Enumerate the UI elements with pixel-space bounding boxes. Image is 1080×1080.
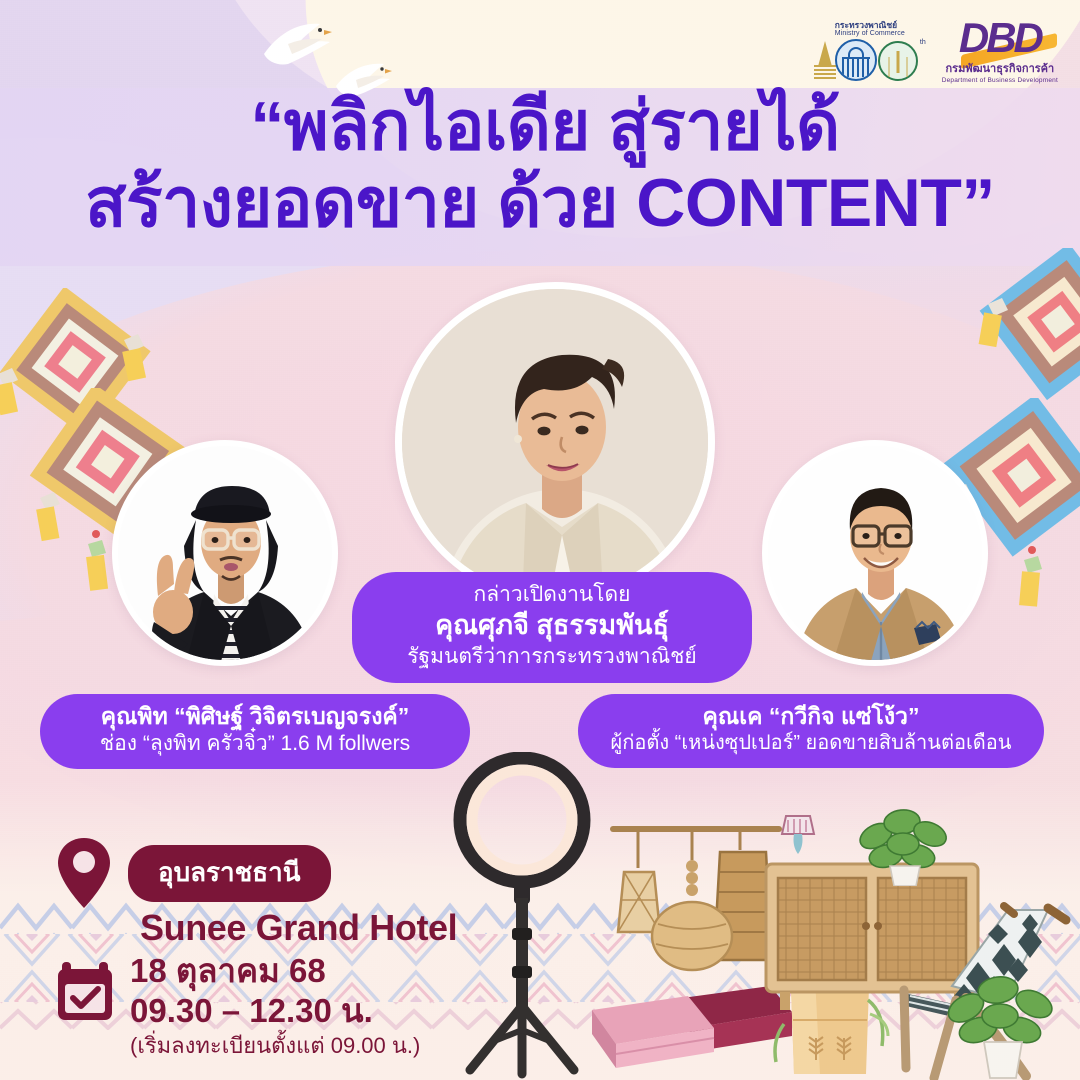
dbd-name-th: กรมพัฒนาธุรกิจการค้า xyxy=(946,59,1055,77)
dbd-wordmark: DBD xyxy=(959,18,1041,58)
avatar xyxy=(402,289,715,602)
ministry-name-th: กระทรวงพาณิชย์ xyxy=(835,21,905,31)
potted-plant-prop xyxy=(942,968,1066,1080)
hotel-name: Sunee Grand Hotel xyxy=(140,908,457,948)
registration-note: (เริ่มลงทะเบียนตั้งแต่ 09.00 น.) xyxy=(130,1032,420,1060)
event-date: 18 ตุลาคม 68 xyxy=(130,952,420,991)
ministry-logo-text: กระทรวงพาณิชย์ Ministry of Commerce xyxy=(835,21,905,39)
speaker-photo-left xyxy=(112,440,338,666)
page-title: “พลิกไอเดีย สู่รายได้ สร้างยอดขาย ด้วย C… xyxy=(0,92,1080,239)
left-speaker-detail: ช่อง “ลุงพิท ครัวจิ๋ว” 1.6 M follwers xyxy=(54,731,456,758)
speaker-badge-left: คุณพิท “พิศิษฐ์ วิจิตรเบญจรงค์” ช่อง “ลุ… xyxy=(40,694,470,769)
left-speaker-name: คุณพิท “พิศิษฐ์ วิจิตรเบญจรงค์” xyxy=(54,702,456,731)
location-pin-icon xyxy=(56,836,112,910)
potted-plant-prop xyxy=(848,806,960,886)
venue-location-row: อุบลราชธานี xyxy=(56,836,457,910)
center-speaker-role: รัฐมนตรีว่าการกระทรวงพาณิชย์ xyxy=(370,643,734,670)
numeral-zero-emblem xyxy=(835,39,877,81)
speaker-badge-center: กล่าวเปิดงานโดย คุณศุภจี สุธรรมพันธุ์ รั… xyxy=(352,572,752,683)
calendar-check-icon xyxy=(56,960,114,1022)
speaker-photo-right xyxy=(762,440,988,666)
numeral-five-emblem xyxy=(878,41,918,81)
hotel-name-wrap: Sunee Grand Hotel xyxy=(140,908,457,948)
datetime-block: 18 ตุลาคม 68 09.30 – 12.30 น. (เริ่มลงทะ… xyxy=(130,952,420,1059)
numeral-one-shape xyxy=(814,41,836,81)
ministry-name-en: Ministry of Commerce xyxy=(835,30,905,38)
speaker-photo-center xyxy=(395,282,715,602)
ministry-105th-mark: th xyxy=(814,39,926,81)
venue-block: อุบลราชธานี Sunee Grand Hotel 18 ตุลาคม … xyxy=(56,836,457,1059)
event-time: 09.30 – 12.30 น. xyxy=(130,991,420,1031)
logo-group: กระทรวงพาณิชย์ Ministry of Commerce th D… xyxy=(814,18,1058,84)
bird-icon xyxy=(258,14,336,74)
title-line-2: สร้างยอดขาย ด้วย CONTENT” xyxy=(0,169,1080,238)
ministry-of-commerce-logo: กระทรวงพาณิชย์ Ministry of Commerce th xyxy=(814,21,926,82)
tassel xyxy=(36,492,60,541)
dbd-name-en: Department of Business Development xyxy=(942,77,1058,84)
tassel-pendant xyxy=(86,530,108,591)
tassel-pendant xyxy=(1019,546,1042,607)
dbd-letters: DBD xyxy=(959,14,1041,61)
table-lamp-prop xyxy=(778,812,818,862)
center-speaker-name: คุณศุภจี สุธรรมพันธุ์ xyxy=(370,608,734,643)
dbd-logo: DBD กรมพัฒนาธุรกิจการค้า Department of B… xyxy=(942,18,1058,84)
right-speaker-detail: ผู้ก่อตั้ง “เหน่งซุปเปอร์” ยอดขายสิบล้าน… xyxy=(592,731,1030,757)
tassel xyxy=(0,368,18,415)
city-badge: อุบลราชธานี xyxy=(128,845,331,902)
poster-canvas: “พลิกไอเดีย สู่รายได้ สร้างยอดขาย ด้วย C… xyxy=(0,0,1080,1080)
ring-light-prop xyxy=(452,752,592,1080)
speaker-badge-right: คุณเค “กวีกิจ แซ่โง้ว” ผู้ก่อตั้ง “เหน่ง… xyxy=(578,694,1044,768)
venue-datetime-row: 18 ตุลาคม 68 09.30 – 12.30 น. (เริ่มลงทะ… xyxy=(56,952,457,1059)
title-line-1: “พลิกไอเดีย สู่รายได้ xyxy=(0,92,1080,161)
center-speaker-intro: กล่าวเปิดงานโดย xyxy=(370,582,734,608)
right-speaker-name: คุณเค “กวีกิจ แซ่โง้ว” xyxy=(592,702,1030,731)
anniversary-suffix: th xyxy=(920,39,926,46)
